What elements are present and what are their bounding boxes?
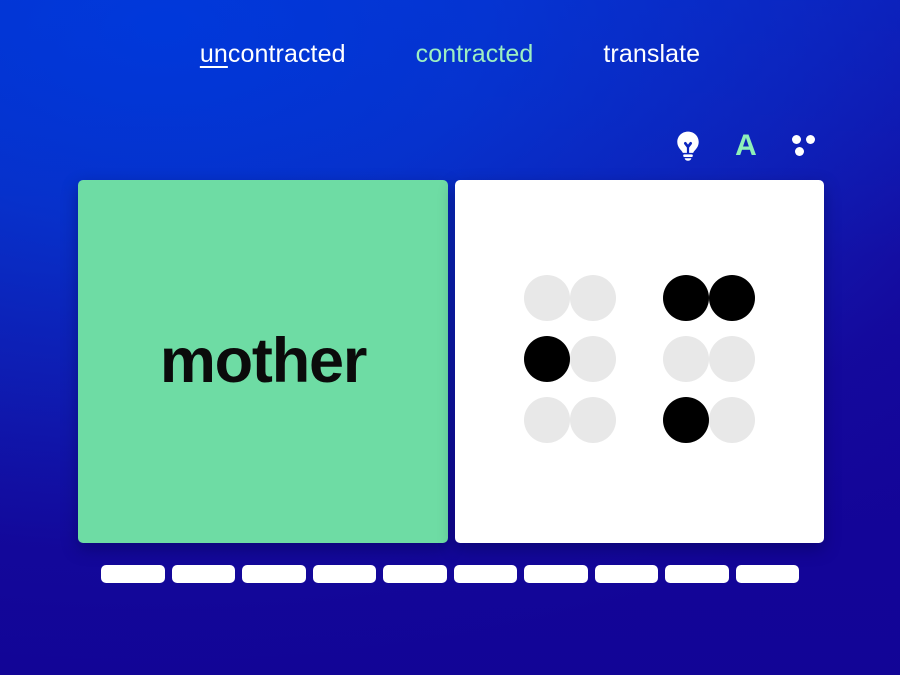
- braille-grid: [524, 268, 755, 451]
- braille-icon-dot-1: [792, 135, 801, 144]
- letter-a-glyph: A: [735, 131, 757, 161]
- braille-card[interactable]: [455, 180, 824, 543]
- app-root: uncontracted contracted translate A: [0, 0, 900, 675]
- progress-segment[interactable]: [172, 565, 236, 583]
- card-row: mother: [78, 180, 824, 543]
- braille-cell-2-dot-6[interactable]: [709, 397, 755, 443]
- braille-icon[interactable]: [786, 128, 822, 164]
- braille-cell-2[interactable]: [663, 268, 755, 451]
- tab-uncontracted-rest: contracted: [228, 40, 346, 68]
- tab-translate[interactable]: translate: [603, 40, 700, 69]
- progress-segment[interactable]: [101, 565, 165, 583]
- braille-cell-1-dot-3[interactable]: [524, 397, 570, 443]
- word-card[interactable]: mother: [78, 180, 448, 543]
- braille-cell-1[interactable]: [524, 268, 616, 451]
- tab-contracted[interactable]: contracted: [416, 40, 534, 69]
- tab-uncontracted[interactable]: uncontracted: [200, 40, 346, 69]
- progress-bar: [101, 565, 799, 583]
- braille-icon-dot-2: [806, 135, 815, 144]
- progress-segment[interactable]: [383, 565, 447, 583]
- braille-cell-2-dot-5[interactable]: [709, 336, 755, 382]
- progress-segment[interactable]: [454, 565, 518, 583]
- braille-icon-dot-3: [795, 147, 804, 156]
- braille-cell-2-dot-2[interactable]: [663, 336, 709, 382]
- progress-segment[interactable]: [242, 565, 306, 583]
- braille-cell-2-dot-3[interactable]: [663, 397, 709, 443]
- braille-cell-1-dot-4[interactable]: [570, 275, 616, 321]
- braille-cell-1-dot-2[interactable]: [524, 336, 570, 382]
- letter-a-icon[interactable]: A: [728, 128, 764, 164]
- toolbar: A: [0, 128, 900, 164]
- progress-segment[interactable]: [665, 565, 729, 583]
- braille-cell-1-dot-5[interactable]: [570, 336, 616, 382]
- progress-segment[interactable]: [313, 565, 377, 583]
- word-text: mother: [160, 330, 366, 393]
- tab-uncontracted-prefix: un: [200, 40, 228, 68]
- progress-segment[interactable]: [595, 565, 659, 583]
- braille-cell-1-dot-6[interactable]: [570, 397, 616, 443]
- progress-segment[interactable]: [524, 565, 588, 583]
- braille-cell-2-dot-4[interactable]: [709, 275, 755, 321]
- braille-icon-dots: [791, 133, 817, 159]
- lightbulb-icon[interactable]: [670, 128, 706, 164]
- braille-cell-1-dot-1[interactable]: [524, 275, 570, 321]
- progress-segment[interactable]: [736, 565, 800, 583]
- mode-tabs: uncontracted contracted translate: [0, 40, 900, 69]
- braille-cell-2-dot-1[interactable]: [663, 275, 709, 321]
